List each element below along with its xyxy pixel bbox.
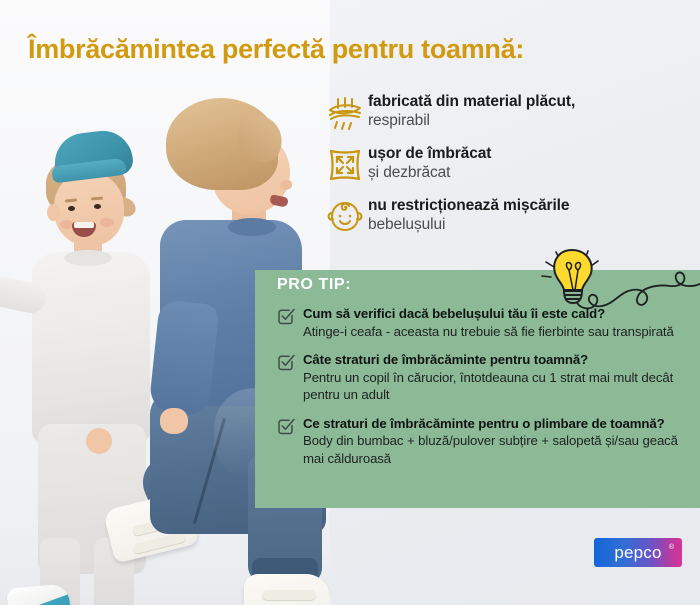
feature-item: nu restricționează mișcările bebelușului	[322, 196, 694, 238]
tip-text: Ce straturi de îmbrăcăminte pentru o pli…	[303, 415, 692, 468]
feature-text: fabricată din material plăcut, respirabi…	[368, 92, 575, 131]
tip-answer: Atinge-i ceafa - aceasta nu trebuie să f…	[303, 324, 674, 339]
tip-text: Câte straturi de îmbrăcăminte pentru toa…	[303, 351, 692, 404]
child-left-eye-2	[94, 204, 101, 209]
page-title: Îmbrăcămintea perfectă pentru toamnă:	[28, 34, 678, 65]
pepco-logo-text: pepco	[614, 543, 661, 563]
checkbox-checked-icon	[277, 351, 303, 377]
feature-subtitle: bebelușului	[368, 216, 569, 235]
feature-list: fabricată din material plăcut, respirabi…	[322, 92, 694, 248]
breathable-fabric-icon	[322, 92, 368, 134]
infographic-root: Îmbrăcămintea perfectă pentru toamnă: fa…	[0, 0, 700, 605]
child-left-hand-2	[86, 428, 112, 454]
child-left-eye-1	[68, 206, 75, 211]
tip-question: Ce straturi de îmbrăcăminte pentru o pli…	[303, 416, 665, 431]
tip-answer: Body din bumbac + bluză/pulover subțire …	[303, 433, 678, 466]
stretch-square-icon	[322, 144, 368, 186]
child-left-cheek-2	[100, 218, 114, 227]
child-right-hand	[160, 408, 188, 434]
tip-answer: Pentru un copil în cărucior, întotdeauna…	[303, 370, 673, 403]
feature-item: fabricată din material plăcut, respirabi…	[322, 92, 694, 134]
baby-face-icon	[322, 196, 368, 238]
tip-item: Câte straturi de îmbrăcăminte pentru toa…	[277, 351, 692, 404]
feature-title: ușor de îmbrăcat	[368, 145, 491, 164]
feature-title: fabricată din material plăcut,	[368, 93, 575, 112]
checkbox-checked-icon	[277, 305, 303, 331]
pro-tip-heading: PRO TIP:	[277, 276, 692, 294]
tip-item: Ce straturi de îmbrăcăminte pentru o pli…	[277, 415, 692, 468]
feature-subtitle: respirabil	[368, 112, 575, 131]
child-left-collar	[64, 250, 112, 266]
tip-question: Cum să verifici dacă bebelușului tău îi …	[303, 306, 605, 321]
child-right-arm	[148, 299, 219, 417]
feature-subtitle: și dezbrăcat	[368, 164, 491, 183]
tip-item: Cum să verifici dacă bebelușului tău îi …	[277, 305, 692, 340]
tip-text: Cum să verifici dacă bebelușului tău îi …	[303, 305, 674, 340]
pepco-logo[interactable]: pepco ®	[594, 538, 682, 567]
tip-question: Câte straturi de îmbrăcăminte pentru toa…	[303, 352, 588, 367]
feature-text: nu restricționează mișcările bebelușului	[368, 196, 569, 235]
feature-title: nu restricționează mișcările	[368, 197, 569, 216]
pro-tip-content: PRO TIP: Cum să verifici dacă bebelușulu…	[277, 276, 692, 478]
child-right-strap-3	[262, 590, 316, 600]
child-left-ear	[47, 204, 60, 221]
child-left-teeth	[74, 222, 94, 228]
child-right-collar	[228, 218, 276, 236]
feature-text: ușor de îmbrăcat și dezbrăcat	[368, 144, 491, 183]
checkbox-checked-icon	[277, 415, 303, 441]
registered-mark: ®	[669, 544, 674, 551]
child-right-nose	[280, 180, 292, 190]
feature-item: ușor de îmbrăcat și dezbrăcat	[322, 144, 694, 186]
